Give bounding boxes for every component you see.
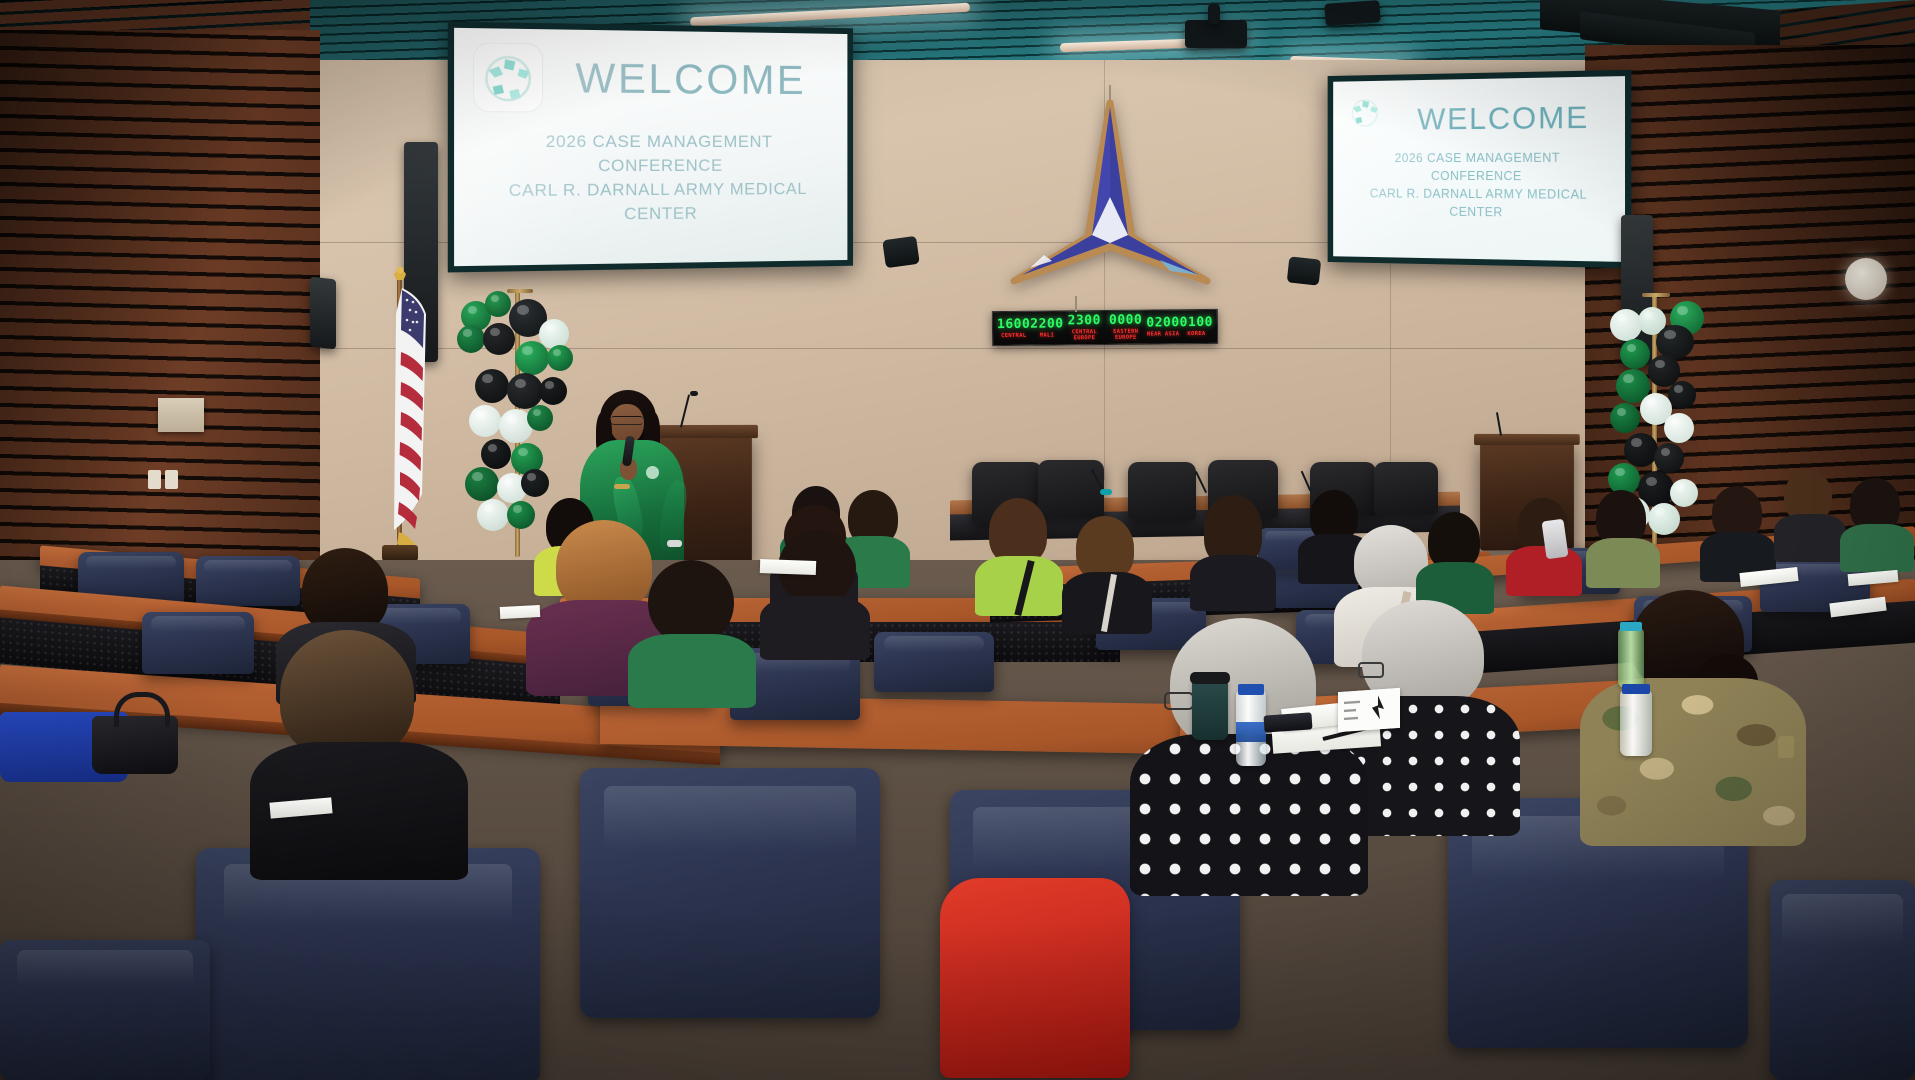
left-slide-line-1: 2026 CASE MANAGEMENT — [475, 131, 838, 153]
clock-label: CENTRAL EUROPE — [1064, 330, 1105, 341]
right-slide-line-4: CENTER — [1342, 204, 1617, 222]
balloon — [485, 291, 511, 317]
clock-time: 0200 — [1146, 316, 1179, 329]
balloon — [483, 323, 515, 355]
attendee-hair — [989, 498, 1047, 564]
attendee-hair — [1076, 516, 1134, 580]
water-bottle[interactable] — [1620, 690, 1652, 756]
exec-chair — [1128, 462, 1196, 520]
uniform-shoulder-patch — [1778, 736, 1794, 758]
wall-speaker — [882, 236, 920, 268]
attendee-torso — [1840, 524, 1914, 572]
left-slide-line-3: CARL R. DARNALL ARMY MEDICAL — [465, 178, 848, 201]
chair[interactable] — [580, 768, 880, 1018]
podium-right-top — [1474, 434, 1580, 445]
water-bottle-cap — [1238, 684, 1264, 695]
clock-time: 0000 — [1105, 314, 1147, 327]
attendee — [250, 630, 470, 870]
iii-corps-insignia — [1000, 85, 1220, 285]
balloon — [457, 325, 485, 353]
attendee — [760, 530, 872, 650]
balloon — [1668, 381, 1696, 409]
attendee — [1416, 512, 1496, 608]
logo-graphic — [474, 43, 542, 111]
attendee-torso — [1774, 514, 1846, 562]
balloon — [465, 467, 499, 501]
water-bottle-cap — [1622, 684, 1650, 694]
balloon-stand-arm — [507, 289, 533, 293]
chair[interactable] — [142, 612, 254, 674]
left-screen-surface: WELCOME 2026 CASE MANAGEMENT CONFERENCE … — [454, 28, 847, 266]
travel-tumbler-lid — [1190, 672, 1230, 684]
attendee-hair — [280, 630, 414, 758]
light-switch-plate[interactable] — [165, 470, 178, 489]
balloon — [539, 377, 567, 405]
balloon — [469, 405, 501, 437]
clock-zone: 0100 KOREA — [1180, 316, 1214, 338]
right-slide-line-2: CONFERENCE — [1342, 169, 1617, 185]
clock-label: CENTRAL — [997, 334, 1030, 340]
balloon — [507, 373, 543, 409]
attendee-torso — [628, 634, 756, 708]
attendee — [1840, 478, 1915, 568]
red-jacket — [940, 878, 1130, 1078]
chair[interactable] — [874, 632, 994, 692]
balloon — [1610, 403, 1640, 433]
smartphone[interactable] — [1263, 712, 1312, 732]
attendee-eyeglasses — [1164, 692, 1194, 710]
attendee — [628, 560, 758, 700]
right-screen-frame: WELCOME 2026 CASE MANAGEMENT CONFERENCE … — [1328, 70, 1632, 269]
water-bottle-label — [1236, 722, 1266, 742]
table-microphone-base — [1100, 489, 1112, 495]
logo-graphic — [1344, 91, 1385, 134]
clock-label: MALI — [1030, 333, 1063, 339]
attendee — [1586, 490, 1662, 582]
attendee — [1774, 470, 1848, 556]
ceiling-projector-mount — [1208, 4, 1220, 24]
chair[interactable] — [0, 940, 210, 1080]
left-slide-heading: WELCOME — [547, 54, 832, 104]
organization-logo — [1344, 91, 1385, 134]
united-states-flag — [350, 260, 460, 560]
left-screen-frame: WELCOME 2026 CASE MANAGEMENT CONFERENCE … — [448, 22, 853, 273]
clock-label: EASTERN EUROPE — [1105, 330, 1146, 341]
clock-time: 1600 — [997, 318, 1030, 331]
handout[interactable] — [500, 605, 541, 619]
wall-speaker — [310, 277, 336, 350]
balloon — [521, 469, 549, 497]
clock-time: 2200 — [1030, 317, 1063, 330]
balloon — [1624, 433, 1658, 467]
attendee — [1190, 495, 1278, 603]
balloon — [1656, 325, 1694, 359]
wall-sconce — [1845, 258, 1887, 300]
clock-zone: 2300 CENTRAL EUROPE — [1063, 314, 1105, 341]
balloon — [481, 439, 511, 469]
right-slide-line-1: 2026 CASE MANAGEMENT — [1342, 150, 1617, 166]
clock-zone: 1600 CENTRAL — [997, 318, 1031, 340]
attendee — [975, 498, 1065, 610]
attendee — [1700, 486, 1778, 578]
presenter-shirt-logo — [646, 466, 659, 479]
right-slide-line-3: CARL R. DARNALL ARMY MEDICAL — [1337, 186, 1624, 203]
attendee-torso — [1506, 546, 1582, 596]
balloon — [475, 369, 509, 403]
presenter-eyeglasses — [611, 416, 643, 425]
chair[interactable] — [1770, 880, 1915, 1080]
name-tent-card — [1338, 688, 1400, 732]
tent-card-graphic — [1338, 688, 1400, 732]
attendee — [1062, 516, 1154, 626]
balloon — [515, 341, 549, 375]
handout[interactable] — [760, 559, 816, 575]
exec-chair — [1374, 462, 1438, 514]
attendee-torso — [1586, 538, 1660, 588]
clock-label: NEAR ASIA — [1146, 332, 1179, 338]
balloon — [1670, 479, 1698, 507]
balloon — [1620, 339, 1650, 369]
auditorium-photo: WELCOME 2026 CASE MANAGEMENT CONFERENCE … — [0, 0, 1915, 1080]
balloon — [527, 405, 553, 431]
right-screen-surface: WELCOME 2026 CASE MANAGEMENT CONFERENCE … — [1333, 76, 1625, 262]
flag-graphic — [350, 260, 460, 560]
ceiling-projector — [1185, 20, 1247, 48]
balloon-stand-arm — [1642, 293, 1670, 297]
organization-logo — [473, 42, 543, 112]
balloon — [477, 499, 509, 531]
clock-time: 2300 — [1063, 314, 1105, 327]
travel-tumbler[interactable] — [1192, 678, 1228, 740]
wall-speaker — [1287, 256, 1322, 285]
uniform-jacket — [1580, 678, 1806, 846]
ceiling-speaker — [1324, 0, 1380, 26]
water-bottle[interactable] — [1618, 628, 1644, 688]
attendee-in-uniform — [1580, 590, 1810, 840]
handbag-handle — [114, 692, 170, 727]
attendee-torso — [1190, 555, 1276, 611]
clock-label: KOREA — [1180, 332, 1213, 338]
balloon — [547, 345, 573, 371]
clock-zone: 0000 EASTERN EUROPE — [1105, 314, 1147, 341]
clock-board-bracket — [1075, 296, 1077, 312]
left-slide-line-2: CONFERENCE — [475, 155, 838, 177]
clock-time: 0100 — [1180, 316, 1213, 329]
chair[interactable] — [196, 848, 540, 1080]
presenter-bracelet — [614, 484, 630, 489]
water-bottle-cap — [1620, 622, 1642, 631]
right-slide-heading: WELCOME — [1395, 99, 1614, 138]
light-switch-plate[interactable] — [148, 470, 161, 489]
balloon — [1610, 309, 1642, 341]
clock-zone: 2200 MALI — [1030, 317, 1064, 339]
balloon — [1664, 413, 1694, 443]
left-slide-line-4: CENTER — [475, 202, 838, 227]
attendee-torso — [760, 596, 870, 660]
clock-zone: 0200 NEAR ASIA — [1146, 316, 1180, 338]
world-clock-board: 1600 CENTRAL 2200 MALI 2300 CENTRAL EURO… — [992, 309, 1218, 346]
wall-sign — [158, 398, 204, 432]
balloon — [1654, 443, 1684, 473]
